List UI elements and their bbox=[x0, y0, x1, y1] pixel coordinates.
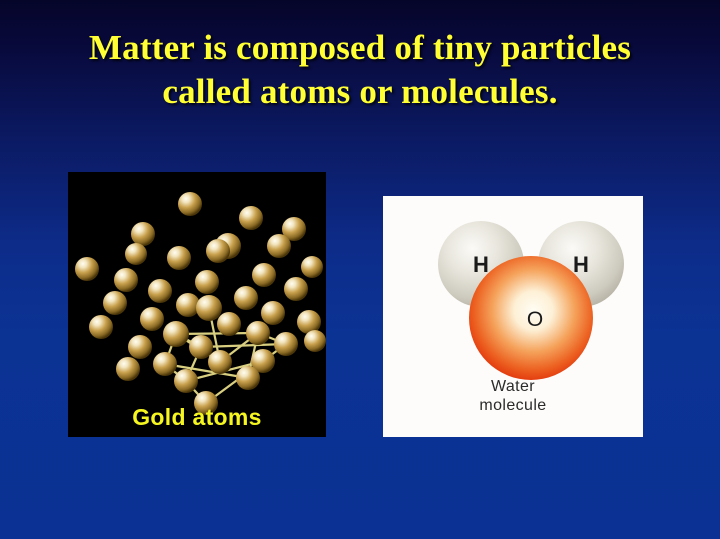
gold-atom bbox=[284, 277, 308, 301]
gold-atom bbox=[261, 301, 285, 325]
gold-atom bbox=[103, 291, 127, 315]
gold-atom bbox=[246, 321, 270, 345]
gold-atoms-caption: Gold atoms bbox=[68, 404, 326, 431]
gold-atom bbox=[114, 268, 138, 292]
gold-atoms-figure: Gold atoms bbox=[68, 172, 326, 437]
water-caption-line-1: Water bbox=[383, 377, 643, 396]
hydrogen-right-label: H bbox=[573, 252, 589, 277]
water-molecule-caption: Water molecule bbox=[383, 377, 643, 415]
gold-atom bbox=[206, 239, 230, 263]
page-title: Matter is composed of tiny particles cal… bbox=[0, 26, 720, 114]
gold-atom bbox=[128, 335, 152, 359]
gold-atom bbox=[174, 369, 198, 393]
water-molecule-figure: H H O Water molecule bbox=[383, 196, 643, 437]
water-caption-line-2: molecule bbox=[383, 396, 643, 415]
hydrogen-left-label: H bbox=[473, 252, 489, 277]
gold-atom bbox=[195, 270, 219, 294]
slide-canvas: Matter is composed of tiny particles cal… bbox=[0, 0, 720, 539]
title-line-1: Matter is composed of tiny particles bbox=[0, 26, 720, 70]
gold-atom bbox=[252, 263, 276, 287]
gold-atom bbox=[178, 192, 202, 216]
gold-atom bbox=[167, 246, 191, 270]
gold-atom bbox=[153, 352, 177, 376]
gold-atom bbox=[267, 234, 291, 258]
gold-atom bbox=[125, 243, 147, 265]
gold-atom bbox=[89, 315, 113, 339]
gold-atom bbox=[196, 295, 222, 321]
gold-atom bbox=[208, 350, 232, 374]
gold-atom bbox=[131, 222, 155, 246]
gold-atom bbox=[163, 321, 189, 347]
gold-atom bbox=[75, 257, 99, 281]
gold-atom bbox=[304, 330, 326, 352]
title-line-2: called atoms or molecules. bbox=[0, 70, 720, 114]
gold-atoms-illustration bbox=[68, 172, 326, 437]
gold-atom bbox=[116, 357, 140, 381]
gold-atom bbox=[140, 307, 164, 331]
oxygen-label: O bbox=[527, 308, 543, 331]
gold-atom bbox=[239, 206, 263, 230]
gold-atom bbox=[234, 286, 258, 310]
gold-atom bbox=[148, 279, 172, 303]
gold-atom bbox=[236, 366, 260, 390]
gold-atom bbox=[189, 335, 213, 359]
gold-atom bbox=[274, 332, 298, 356]
gold-atom bbox=[217, 312, 241, 336]
gold-atom bbox=[301, 256, 323, 278]
